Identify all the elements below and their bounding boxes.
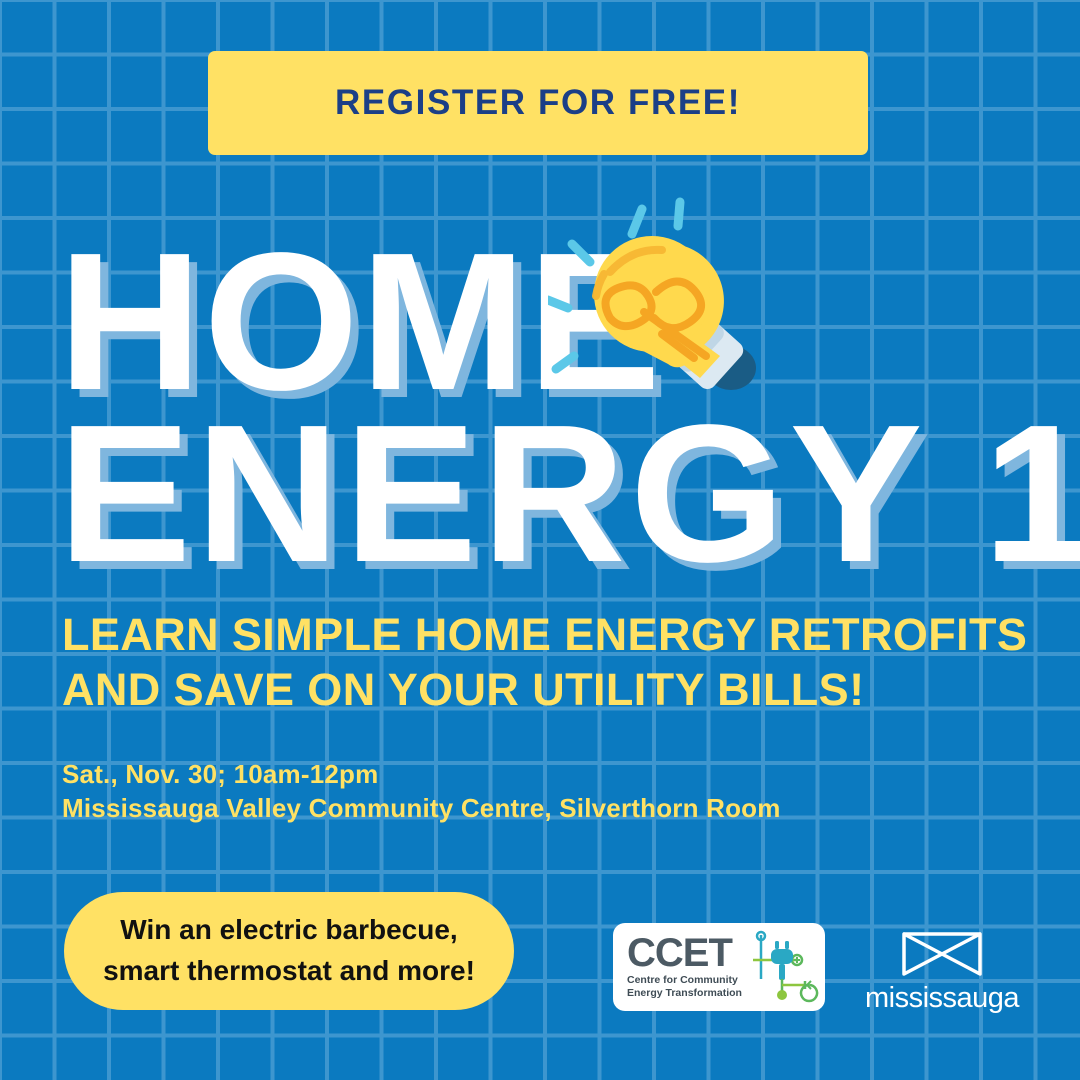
ccet-tagline-line-2: Energy Transformation	[627, 987, 745, 1000]
prize-line-2: smart thermostat and more!	[103, 951, 475, 992]
ccet-tagline: Centre for Community Energy Transformati…	[627, 974, 745, 1000]
event-datetime: Sat., Nov. 30; 10am-12pm	[62, 757, 781, 791]
poster-canvas: REGISTER FOR FREE! HOME ENERGY 101	[0, 0, 1080, 1080]
ccet-tagline-line-1: Centre for Community	[627, 974, 745, 987]
mississauga-wordmark: mississauga	[865, 984, 1019, 1013]
event-location: Mississauga Valley Community Centre, Sil…	[62, 791, 781, 825]
register-banner-label: REGISTER FOR FREE!	[335, 83, 741, 123]
butterfly-m-icon	[898, 930, 986, 978]
page-title-line-2: ENERGY 101	[58, 408, 1078, 580]
ccet-wordmark: CCET	[627, 934, 745, 972]
mississauga-logo: mississauga	[852, 930, 1032, 1018]
subheadline-line-2: AND SAVE ON YOUR UTILITY BILLS!	[62, 663, 1012, 718]
prize-line-1: Win an electric barbecue,	[120, 910, 457, 951]
subheadline: LEARN SIMPLE HOME ENERGY RETROFITS AND S…	[62, 608, 1012, 718]
ccet-circuit-icon	[745, 927, 825, 1007]
ccet-text-block: CCET Centre for Community Energy Transfo…	[613, 934, 745, 1000]
subheadline-line-1: LEARN SIMPLE HOME ENERGY RETROFITS	[62, 608, 1012, 663]
prize-callout: Win an electric barbecue, smart thermost…	[64, 892, 514, 1010]
ccet-logo: CCET Centre for Community Energy Transfo…	[613, 923, 825, 1011]
lightbulb-icon	[548, 196, 778, 406]
register-banner[interactable]: REGISTER FOR FREE!	[208, 51, 868, 155]
event-details: Sat., Nov. 30; 10am-12pm Mississauga Val…	[62, 757, 781, 826]
